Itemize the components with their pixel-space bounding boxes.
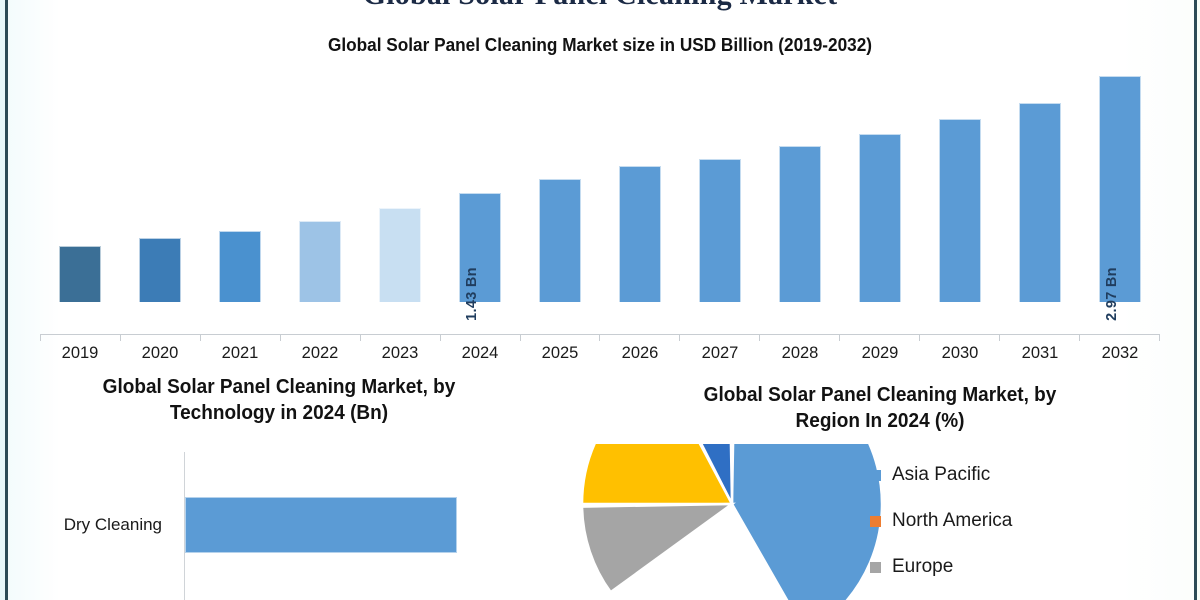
x-axis-label-2028: 2028	[760, 344, 840, 363]
bar-value-label-2024: 1.43 Bn	[464, 267, 480, 321]
region-pie-svg	[562, 444, 892, 600]
frame-border-right	[1194, 0, 1197, 600]
legend-label: North America	[892, 510, 1012, 532]
x-tick-2021	[200, 334, 280, 341]
bar-2022	[299, 221, 341, 303]
bar-value-label-2032: 2.97 Bn	[1104, 267, 1120, 321]
legend-item-asia-pacific[interactable]: Asia Pacific	[870, 452, 1150, 498]
x-axis-label-2020: 2020	[120, 344, 200, 363]
x-tick-2020	[120, 334, 200, 341]
legend-item-europe[interactable]: Europe	[870, 544, 1150, 590]
bar-slot-2021	[200, 66, 280, 302]
region-chart-title-line-1: Global Solar Panel Cleaning Market, by	[614, 382, 1146, 408]
bar-2021	[219, 231, 261, 302]
x-axis-label-2029: 2029	[840, 344, 920, 363]
bar-2030	[939, 119, 981, 302]
technology-chart-title-line-2: Technology in 2024 (Bn)	[27, 400, 531, 426]
bar-2027	[699, 159, 741, 302]
frame-border-left	[5, 0, 8, 600]
bar-slot-2029	[840, 66, 920, 302]
bar-slot-2024: 1.43 Bn	[440, 66, 520, 302]
region-chart-title-line-2: Region In 2024 (%)	[614, 408, 1146, 434]
market-size-chart: Global Solar Panel Cleaning Market size …	[40, 34, 1160, 334]
market-size-x-labels: 2019202020212022202320242025202620272028…	[40, 344, 1160, 363]
x-axis-label-2022: 2022	[280, 344, 360, 363]
bar-2028	[779, 146, 821, 302]
bar-2029	[859, 134, 901, 302]
x-tick-2025	[520, 334, 600, 341]
bar-slot-2019	[40, 66, 120, 302]
x-axis-label-2024: 2024	[440, 344, 520, 363]
bar-2019	[59, 246, 101, 302]
x-tick-2027	[679, 334, 759, 341]
bar-2032: 2.97 Bn	[1099, 76, 1141, 302]
bar-2024: 1.43 Bn	[459, 193, 501, 302]
technology-bar-dry-cleaning	[185, 497, 457, 553]
market-size-x-ticks	[40, 334, 1160, 341]
region-chart-title: Global Solar Panel Cleaning Market, by R…	[614, 382, 1146, 434]
bar-slot-2027	[680, 66, 760, 302]
pie-slice-asia-pacific	[732, 444, 882, 600]
legend-item-north-america[interactable]: North America	[870, 498, 1150, 544]
bar-slot-2031	[1000, 66, 1080, 302]
pie-slice-gray	[582, 504, 732, 592]
x-axis-label-2025: 2025	[520, 344, 600, 363]
x-tick-2028	[759, 334, 839, 341]
legend-label: Europe	[892, 556, 953, 578]
infographic-canvas: Global Solar Panel Cleaning Market Globa…	[0, 0, 1200, 600]
x-tick-2030	[919, 334, 999, 341]
x-axis-label-2026: 2026	[600, 344, 680, 363]
legend-swatch-icon	[870, 562, 881, 573]
technology-bar-row: Dry Cleaning	[14, 494, 544, 556]
bar-slot-2030	[920, 66, 1000, 302]
technology-chart: Global Solar Panel Cleaning Market, by T…	[14, 374, 544, 600]
region-pie-area	[562, 444, 892, 600]
bar-slot-2020	[120, 66, 200, 302]
bar-slot-2022	[280, 66, 360, 302]
bar-2023	[379, 208, 421, 302]
legend-label: Asia Pacific	[892, 464, 990, 486]
bar-2031	[1019, 103, 1061, 303]
x-axis-label-2031: 2031	[1000, 344, 1080, 363]
x-axis-label-2019: 2019	[40, 344, 120, 363]
bar-slot-2026	[600, 66, 680, 302]
region-legend: Asia PacificNorth AmericaEurope	[870, 452, 1150, 590]
x-tick-2023	[360, 334, 440, 341]
bar-slot-2023	[360, 66, 440, 302]
x-tick-2019	[40, 334, 120, 341]
x-axis-label-2030: 2030	[920, 344, 1000, 363]
x-axis-label-2032: 2032	[1080, 344, 1160, 363]
technology-chart-title-line-1: Global Solar Panel Cleaning Market, by	[27, 374, 531, 400]
technology-plot-area: Dry Cleaning	[14, 452, 544, 600]
x-tick-2022	[280, 334, 360, 341]
x-axis-label-2027: 2027	[680, 344, 760, 363]
bar-slot-2028	[760, 66, 840, 302]
market-size-plot-area: 1.43 Bn2.97 Bn 2019202020212022202320242…	[40, 66, 1160, 302]
x-axis-label-2021: 2021	[200, 344, 280, 363]
market-size-chart-title: Global Solar Panel Cleaning Market size …	[79, 34, 1121, 56]
x-axis-label-2023: 2023	[360, 344, 440, 363]
region-chart: Global Solar Panel Cleaning Market, by R…	[600, 382, 1160, 600]
x-tick-2032	[1079, 334, 1160, 341]
bar-slot-2025	[520, 66, 600, 302]
market-size-bars: 1.43 Bn2.97 Bn	[40, 66, 1160, 302]
x-tick-2031	[999, 334, 1079, 341]
technology-category-label: Dry Cleaning	[14, 515, 174, 535]
bar-slot-2032: 2.97 Bn	[1080, 66, 1160, 302]
x-tick-2026	[599, 334, 679, 341]
x-tick-2024	[440, 334, 520, 341]
technology-chart-title: Global Solar Panel Cleaning Market, by T…	[27, 374, 531, 426]
infographic-headline: Global Solar Panel Cleaning Market	[0, 0, 1200, 12]
bar-2026	[619, 166, 661, 302]
bar-2025	[539, 179, 581, 302]
legend-swatch-icon	[870, 470, 881, 481]
bar-2020	[139, 238, 181, 302]
legend-swatch-icon	[870, 516, 881, 527]
x-tick-2029	[839, 334, 919, 341]
